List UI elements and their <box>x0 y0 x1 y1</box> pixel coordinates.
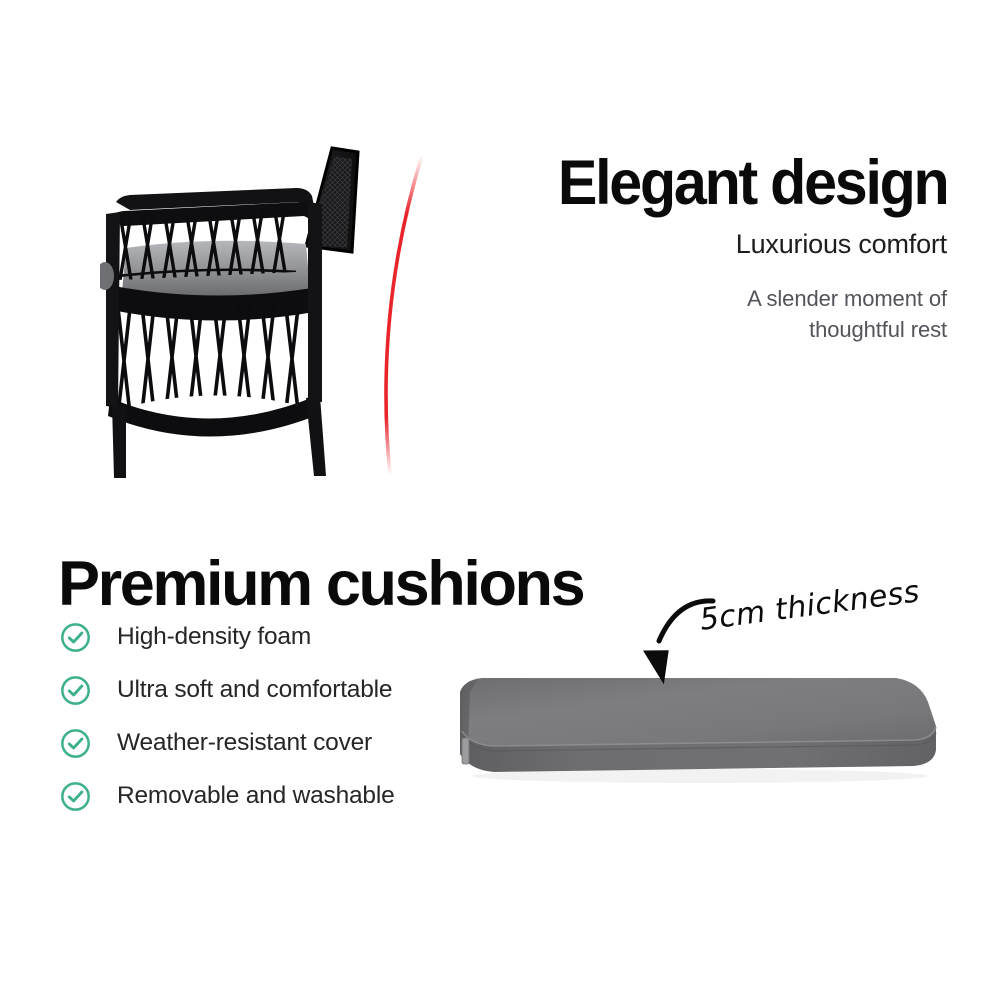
feature-label: Ultra soft and comfortable <box>117 676 392 704</box>
check-circle-icon <box>60 781 91 812</box>
zipper-pull-icon <box>462 738 469 764</box>
chair-leg-back <box>306 396 326 476</box>
product-feature-graphic: Elegant design Luxurious comfort A slend… <box>0 0 1000 1000</box>
chair-leg-front <box>112 404 126 478</box>
feature-label: High-density foam <box>117 623 311 651</box>
chair-side-post-front <box>106 212 120 408</box>
tagline-block: A slender moment of thoughtful rest <box>647 283 947 345</box>
feature-label: Weather-resistant cover <box>117 729 372 757</box>
feature-list: High-density foam Ultra soft and comfort… <box>60 620 480 832</box>
list-item: Removable and washable <box>60 779 480 813</box>
cushion-shadow <box>472 769 928 783</box>
list-item: Ultra soft and comfortable <box>60 673 480 707</box>
premium-cushions-headline: Premium cushions <box>58 553 583 616</box>
tagline-line-2: thoughtful rest <box>809 317 947 342</box>
red-accent-curve <box>350 145 460 485</box>
chair-lower-weave <box>118 304 298 414</box>
thickness-callout-label: 5cm thickness <box>698 574 922 638</box>
luxurious-comfort-subheadline: Luxurious comfort <box>736 229 947 260</box>
check-circle-icon <box>60 728 91 759</box>
list-item: Weather-resistant cover <box>60 726 480 760</box>
chair-side-post-back <box>308 202 322 402</box>
feature-label: Removable and washable <box>117 782 395 810</box>
check-circle-icon <box>60 675 91 706</box>
tagline-line-1: A slender moment of <box>747 286 947 311</box>
check-circle-icon <box>60 622 91 653</box>
list-item: High-density foam <box>60 620 480 654</box>
elegant-design-headline: Elegant design <box>557 152 947 215</box>
